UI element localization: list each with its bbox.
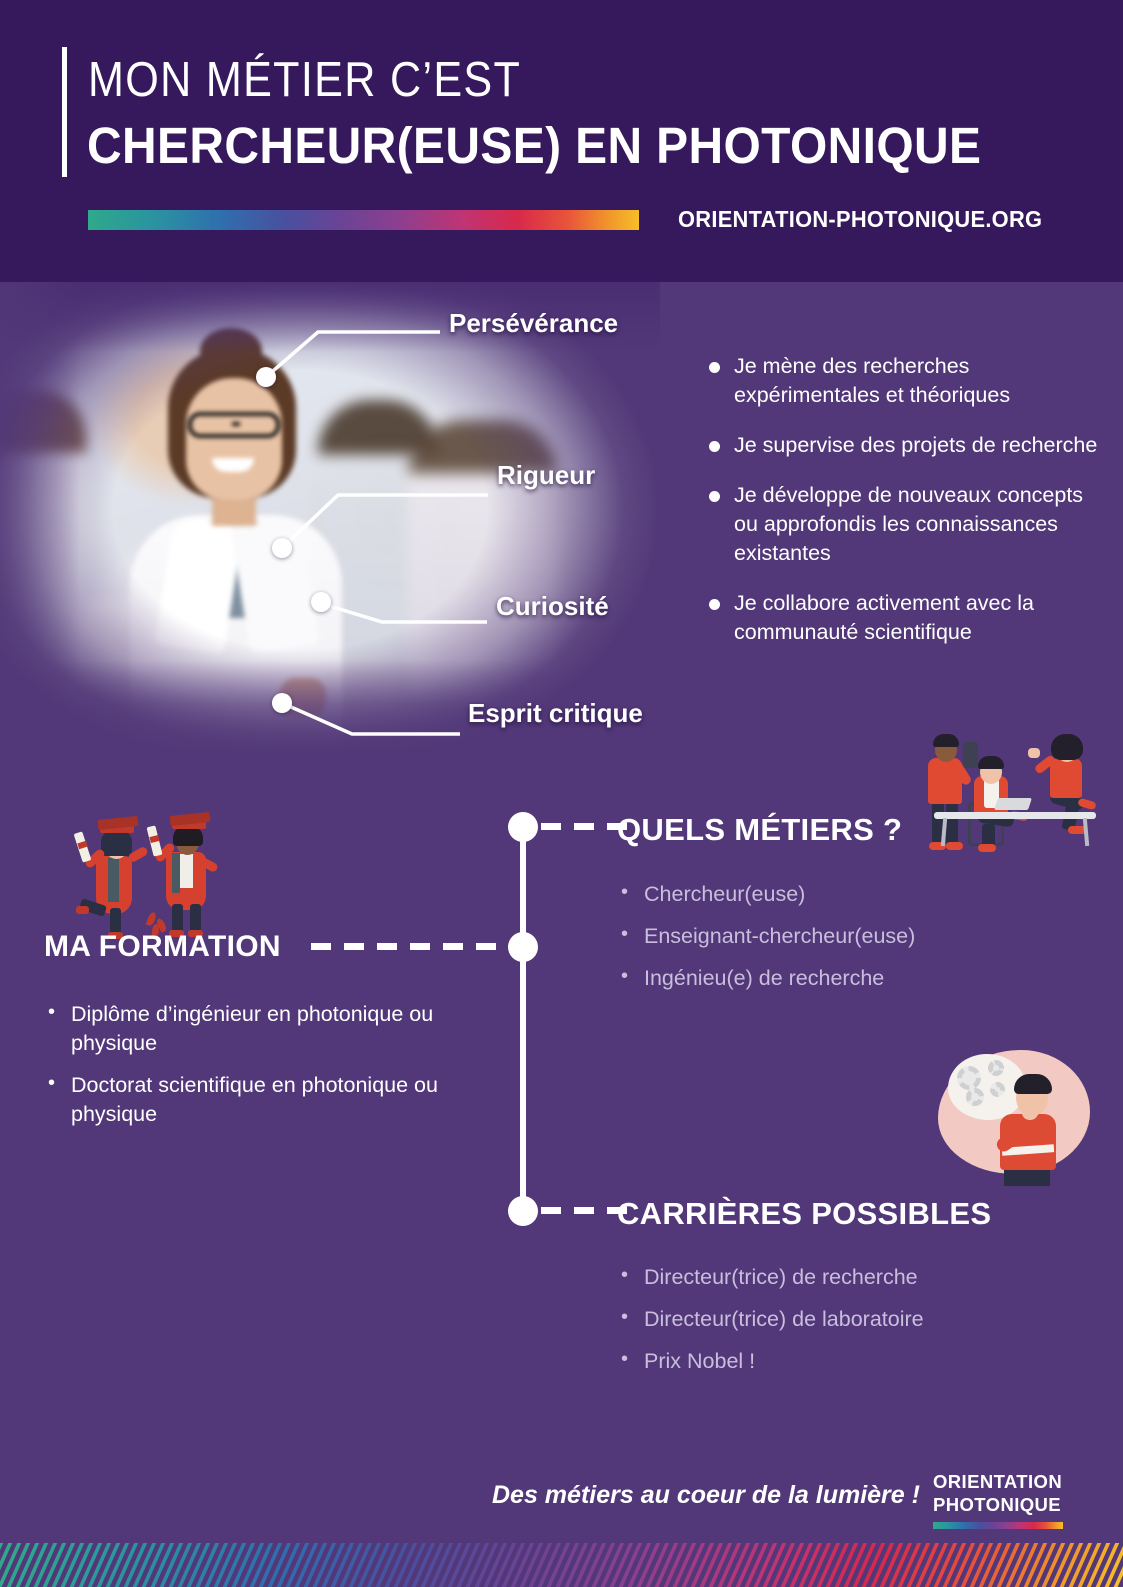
logo-line-1: ORIENTATION bbox=[933, 1470, 1063, 1493]
team-member-seated bbox=[966, 758, 1046, 850]
list-item: Ingénieu(e) de recherche bbox=[617, 964, 1037, 993]
thinking-person-illustration bbox=[930, 1032, 1110, 1192]
leg bbox=[190, 904, 201, 932]
quality-label: Esprit critique bbox=[468, 698, 643, 729]
graduate-figure-right bbox=[148, 812, 228, 934]
hair bbox=[978, 756, 1004, 769]
callout-leader-line bbox=[282, 703, 460, 734]
graduates-illustration bbox=[62, 808, 232, 933]
laptop bbox=[994, 798, 1032, 810]
leg bbox=[172, 904, 183, 932]
team-member-right bbox=[1040, 736, 1102, 846]
formation-list: Diplôme d’ingénieur en photonique ou phy… bbox=[44, 1000, 484, 1142]
section-title-carrieres: CARRIÈRES POSSIBLES bbox=[617, 1196, 991, 1232]
section-title-formation: MA FORMATION bbox=[44, 930, 281, 964]
gear-icon bbox=[990, 1082, 1005, 1097]
stole bbox=[108, 858, 119, 902]
callout-dot bbox=[272, 538, 292, 558]
spectrum-gradient-bar bbox=[88, 210, 639, 230]
shoe bbox=[76, 906, 89, 914]
job-tasks-list: Je mène des recherches expérimentales et… bbox=[700, 352, 1100, 668]
shoe bbox=[978, 844, 996, 852]
graduate-figure-left bbox=[74, 816, 154, 934]
list-item: Directeur(trice) de laboratoire bbox=[617, 1305, 1037, 1334]
task-item: Je supervise des projets de recherche bbox=[700, 431, 1100, 460]
qualities-callout-group: PersévéranceRigueurCuriositéEsprit criti… bbox=[0, 282, 720, 760]
hair bbox=[1051, 734, 1083, 760]
task-item: Je mène des recherches expérimentales et… bbox=[700, 352, 1100, 410]
footer-tagline: Des métiers au coeur de la lumière ! bbox=[492, 1481, 920, 1510]
timeline-dot-formation bbox=[508, 932, 538, 962]
list-item: Diplôme d’ingénieur en photonique ou phy… bbox=[44, 1000, 484, 1058]
carrieres-list: Directeur(trice) de recherche Directeur(… bbox=[617, 1263, 1037, 1389]
callout-dot bbox=[272, 693, 292, 713]
team-meeting-illustration bbox=[912, 718, 1112, 848]
hand bbox=[1028, 748, 1040, 758]
leg bbox=[946, 798, 958, 844]
poster-root: MON MÉTIER C’EST CHERCHEUR(EUSE) EN PHOT… bbox=[0, 0, 1123, 1587]
quality-label: Rigueur bbox=[497, 460, 595, 491]
callout-leader-line bbox=[266, 332, 440, 377]
hair bbox=[933, 734, 959, 747]
section-title-metiers: QUELS MÉTIERS ? bbox=[617, 812, 902, 848]
timeline-dot-carrieres bbox=[508, 1196, 538, 1226]
callout-leader-lines bbox=[0, 282, 720, 760]
hair bbox=[1014, 1074, 1052, 1094]
gear-icon bbox=[988, 1060, 1004, 1076]
timeline-dot-metiers bbox=[508, 812, 538, 842]
logo-spectrum-bar bbox=[933, 1522, 1063, 1529]
task-item: Je collabore activement avec la communau… bbox=[700, 589, 1100, 647]
footer-spectrum-stripes bbox=[0, 1543, 1123, 1587]
timeline-vertical-line bbox=[520, 827, 526, 1212]
callout-leader-line bbox=[323, 604, 487, 622]
quality-label: Persévérance bbox=[449, 308, 618, 339]
list-item: Chercheur(euse) bbox=[617, 880, 1037, 909]
gear-icon bbox=[966, 1088, 984, 1106]
callout-dot bbox=[256, 367, 276, 387]
table-top bbox=[934, 812, 1096, 819]
header-eyebrow: MON MÉTIER C’EST bbox=[88, 52, 521, 108]
shirt bbox=[179, 854, 193, 888]
list-item: Prix Nobel ! bbox=[617, 1347, 1037, 1376]
metiers-list: Chercheur(euse) Enseignant-chercheur(eus… bbox=[617, 880, 1037, 1006]
logo-line-2: PHOTONIQUE bbox=[933, 1493, 1063, 1516]
callout-leader-line bbox=[282, 495, 488, 548]
poster-header: MON MÉTIER C’EST CHERCHEUR(EUSE) EN PHOT… bbox=[0, 0, 1123, 282]
gear-icon bbox=[957, 1066, 981, 1090]
page-title: CHERCHEUR(EUSE) EN PHOTONIQUE bbox=[87, 117, 981, 175]
hair bbox=[101, 830, 132, 856]
torso bbox=[1050, 758, 1082, 798]
timeline-dashes-metiers bbox=[541, 823, 627, 830]
website-url[interactable]: ORIENTATION-PHOTONIQUE.ORG bbox=[678, 206, 1042, 233]
list-item: Directeur(trice) de recherche bbox=[617, 1263, 1037, 1292]
list-item: Enseignant-chercheur(euse) bbox=[617, 922, 1037, 951]
list-item: Doctorat scientifique en photonique ou p… bbox=[44, 1071, 484, 1129]
quality-label: Curiosité bbox=[496, 591, 609, 622]
shoe bbox=[946, 842, 963, 850]
brand-logo: ORIENTATION PHOTONIQUE bbox=[933, 1470, 1063, 1529]
hair bbox=[173, 826, 203, 846]
callout-dot bbox=[311, 592, 331, 612]
timeline-dashes-formation bbox=[311, 943, 496, 950]
timeline-dashes-carrieres bbox=[541, 1207, 627, 1214]
header-accent-rule bbox=[62, 47, 67, 177]
task-item: Je développe de nouveaux concepts ou app… bbox=[700, 481, 1100, 568]
stole bbox=[172, 853, 180, 893]
hand-on-chin bbox=[1022, 1106, 1038, 1120]
